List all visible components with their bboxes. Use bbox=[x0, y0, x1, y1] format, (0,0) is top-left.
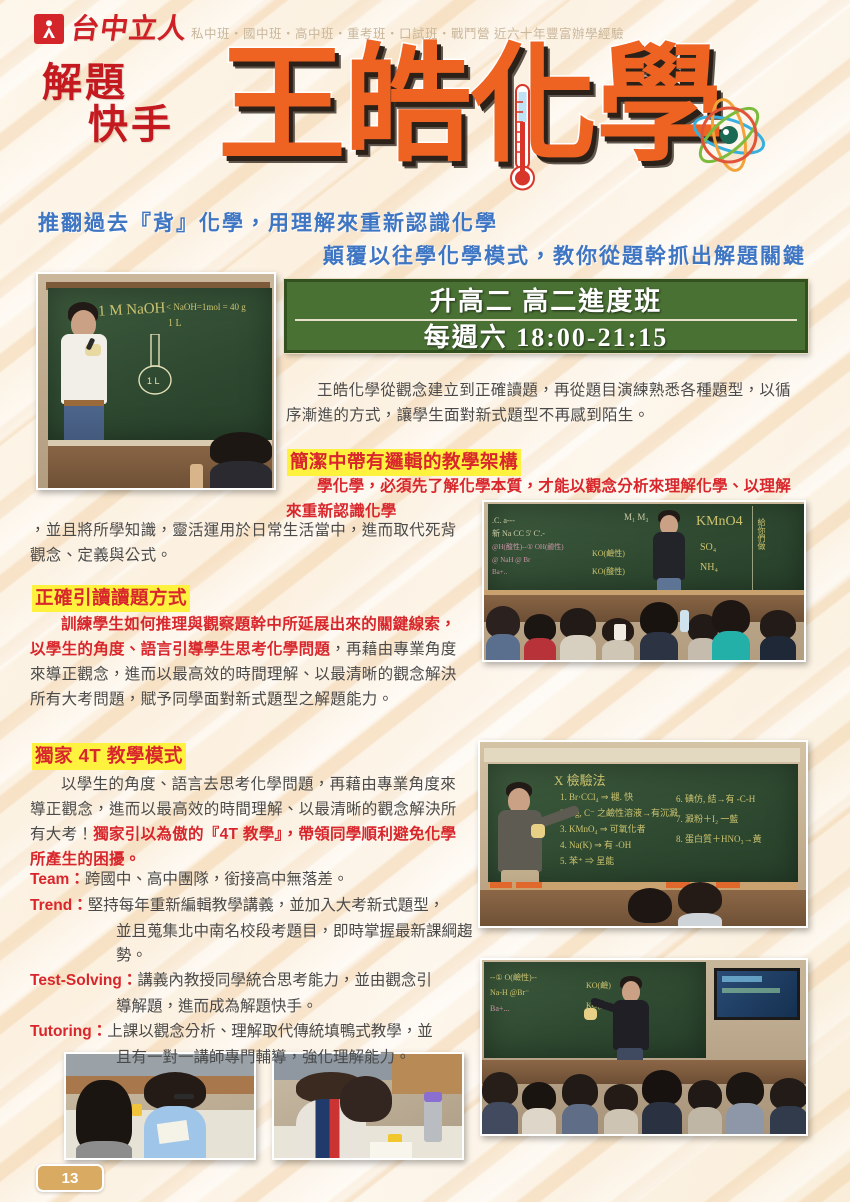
title-block: 解題 快手 王皓化學 bbox=[0, 46, 850, 206]
brand-bar: 台中立人 私中班・國中班・高中班・重考班・口試班・戰鬥營 近六十年豐富辦學經驗 bbox=[34, 14, 624, 44]
page-number-badge: 13 bbox=[36, 1164, 104, 1192]
definition-continuation: 導解題，進而成為解題快手。 bbox=[30, 995, 480, 1020]
4t-definition-list: Team： 跨國中、高中團隊，銜接高中無落差。 Trend： 堅持每年重新編輯教… bbox=[30, 868, 480, 1070]
subtitle-line1: 推翻過去『背』化學，用理解來重新認識化學 bbox=[38, 211, 498, 235]
intro-text: 王皓化學從觀念建立到正確讀題，再從題目演練熟悉各種題型，以循序漸進的方式，讓學生… bbox=[286, 378, 806, 428]
definition-term: Team： bbox=[30, 868, 85, 893]
svg-text:1 L: 1 L bbox=[147, 376, 160, 386]
definition-row: Tutoring： 上課以觀念分析、理解取代傳統填鴨式教學，並 bbox=[30, 1020, 480, 1045]
definition-continuation: 且有一對一講師專門輔導，強化理解能力。 bbox=[30, 1046, 480, 1071]
title-main: 王皓化學 bbox=[218, 42, 722, 170]
atom-icon bbox=[688, 94, 770, 181]
definition-term: Trend： bbox=[30, 894, 88, 919]
fourt-paragraph: 以學生的角度、語言去思考化學問題，再藉由專業角度來導正觀念，進而以最高效的時間理… bbox=[30, 772, 470, 872]
definition-term: Test-Solving： bbox=[30, 969, 137, 994]
definition-row: Team： 跨國中、高中團隊，銜接高中無落差。 bbox=[30, 868, 480, 893]
thermometer-icon bbox=[505, 82, 539, 199]
teacher-white-shirt-blackboard-photo: 1 M NaOH < NaOH=1mol = 40 g 1 L 1 L bbox=[36, 272, 276, 490]
poster-page: 台中立人 私中班・國中班・高中班・重考班・口試班・戰鬥營 近六十年豐富辦學經驗 … bbox=[0, 0, 850, 1202]
course-banner-title: 升高二 高二進度班 bbox=[287, 285, 805, 319]
definition-desc: 講義內教授同學統合思考能力，並由觀念引 bbox=[137, 969, 480, 994]
brand-tagline: 私中班・國中班・高中班・重考班・口試班・戰鬥營 近六十年豐富辦學經驗 bbox=[191, 23, 624, 44]
subtitle-line2: 顛覆以往學化學模式，教你從題幹抓出解題關鍵 bbox=[38, 240, 828, 273]
structure-paragraph-rest: ，並且將所學知識，靈活運用於日常生活當中，進而取代死背觀念、定義與公式。 bbox=[30, 518, 470, 568]
definition-term: Tutoring： bbox=[30, 1020, 107, 1045]
intro-paragraph: 王皓化學從觀念建立到正確讀題，再從題目演練熟悉各種題型，以循序漸進的方式，讓學生… bbox=[286, 378, 806, 428]
person-in-square-icon bbox=[34, 14, 64, 44]
heading-reading: 正確引讀讀題方式 bbox=[32, 585, 190, 612]
definition-desc: 跨國中、高中團隊，銜接高中無落差。 bbox=[85, 868, 480, 893]
title-left-line2: 快手 bbox=[88, 104, 174, 146]
definition-row: Trend： 堅持每年重新編輯教學講義，並加入大考新式題型， bbox=[30, 894, 480, 919]
title-left: 解題 快手 bbox=[42, 62, 174, 146]
title-left-line1: 解題 bbox=[42, 62, 174, 104]
structure-red-text: 學化學，必須先了解化學本質，才能以觀念分析來理解化學、以理解來重新認識化學 bbox=[286, 478, 791, 520]
definition-row: Test-Solving： 講義內教授同學統合思考能力，並由觀念引 bbox=[30, 969, 480, 994]
definition-desc: 堅持每年重新編輯教學講義，並加入大考新式題型， bbox=[88, 894, 480, 919]
chalk-text: X 檢驗法 bbox=[554, 770, 606, 789]
definition-desc: 上課以觀念分析、理解取代傳統填鴨式教學，並 bbox=[107, 1020, 480, 1045]
definition-continuation: 並且蒐集北中南名校段考題目，即時掌握最新課綱趨勢。 bbox=[30, 920, 480, 970]
heading-4t: 獨家 4T 教學模式 bbox=[32, 743, 186, 770]
fourt-red-text: 獨家引以為傲的『4T 教學』，帶領同學順利避免化學所產生的困擾。 bbox=[30, 826, 456, 868]
lecture-hall-wide-photo: --① O(鹼性)-- Na-H @Br⁻ Ba+... KO(鹼) KO(酸) bbox=[480, 958, 808, 1136]
reading-paragraph: 訓練學生如何推理與觀察題幹中所延展出來的關鍵線索，以學生的角度、語言引導學生思考… bbox=[30, 612, 470, 712]
classroom-students-lecture-photo: .C. a--- 新 Na CC 5' C'.- @H(酸性)--① OH(鹼性… bbox=[482, 500, 806, 662]
brand-name: 台中立人 bbox=[69, 16, 189, 44]
course-banner: 升高二 高二進度班 每週六 18:00-21:15 bbox=[284, 279, 808, 353]
course-banner-schedule: 每週六 18:00-21:15 bbox=[287, 321, 805, 355]
structure-rest-text: ，並且將所學知識，靈活運用於日常生活當中，進而取代死背觀念、定義與公式。 bbox=[30, 522, 457, 564]
subtitle-block: 推翻過去『背』化學，用理解來重新認識化學 顛覆以往學化學模式，教你從題幹抓出解題… bbox=[38, 207, 828, 272]
teacher-pointing-blackboard-photo: X 檢驗法 1. Br·CCl₄ ⇒ 褪. 快 2. Ag, C⁻ 之鹼性溶液→… bbox=[478, 740, 808, 928]
structure-paragraph-top: 學化學，必須先了解化學本質，才能以觀念分析來理解化學、以理解來重新認識化學 bbox=[286, 474, 806, 524]
heading-structure: 簡潔中帶有邏輯的教學架構 bbox=[287, 449, 521, 476]
